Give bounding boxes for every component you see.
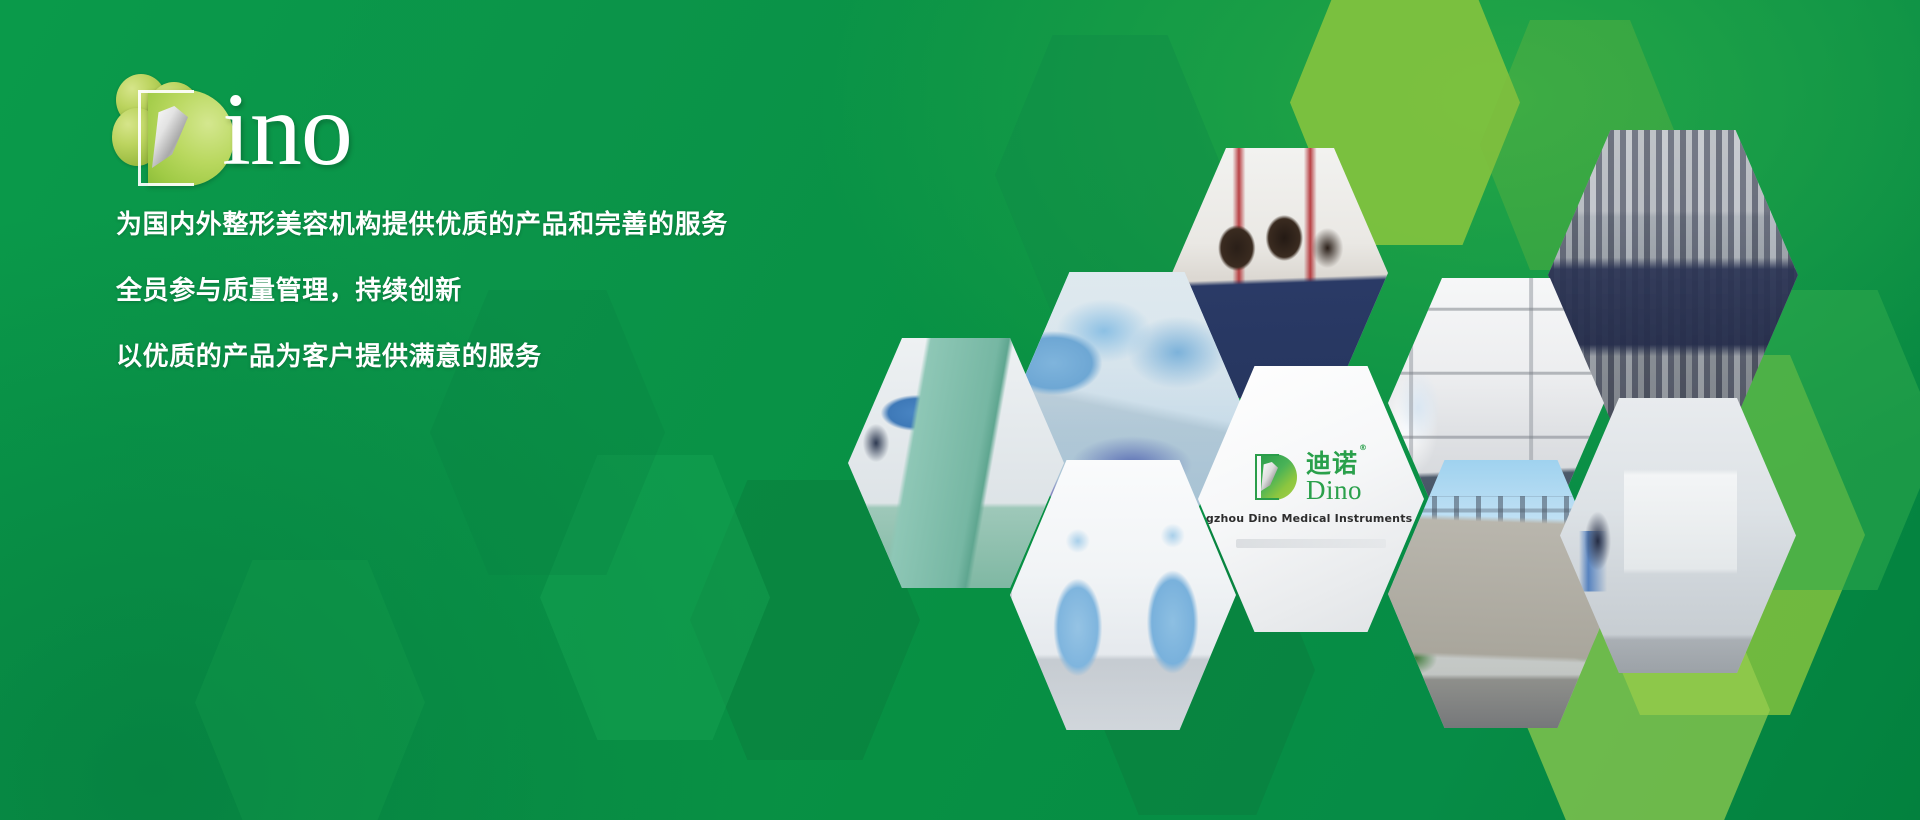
brand-name-en: Dino — [1306, 477, 1362, 504]
company-name: Hangzhou Dino Medical Instruments Co.. — [1181, 512, 1441, 525]
center-brand-row: 迪诺® Dino — [1255, 451, 1367, 504]
brand-d-icon — [1255, 454, 1297, 500]
badge-divider — [1236, 539, 1386, 548]
brand-name-cn: 迪诺® — [1306, 451, 1367, 476]
brand-name-cn-text: 迪诺 — [1306, 449, 1358, 478]
registered-mark-icon: ® — [1359, 443, 1368, 452]
hexagon-photo-cluster: 迪诺® Dino Hangzhou Dino Medical Instrumen… — [0, 0, 1920, 820]
hero-banner: ino 为国内外整形美容机构提供优质的产品和完善的服务 全员参与质量管理，持续创… — [0, 0, 1920, 820]
